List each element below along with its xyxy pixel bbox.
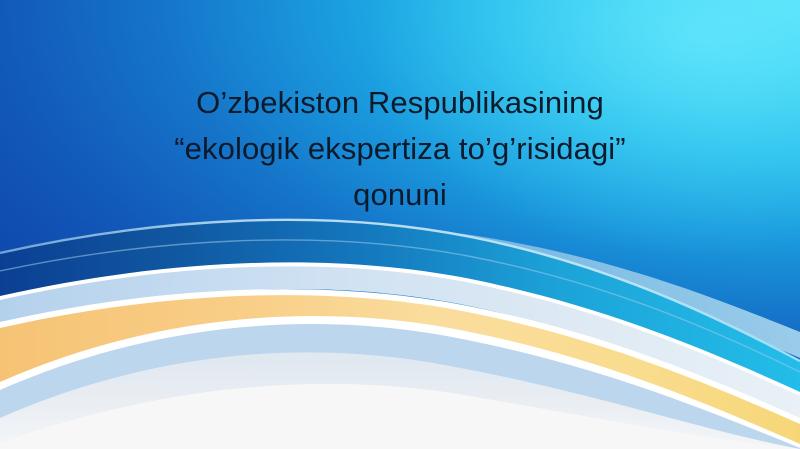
decorative-wave-graphic	[0, 0, 800, 449]
title-slide: O’zbekiston Respublikasining “ekologik e…	[0, 0, 800, 449]
title-line-1: O’zbekiston Respublikasining	[0, 80, 800, 126]
slide-title: O’zbekiston Respublikasining “ekologik e…	[0, 80, 800, 218]
title-line-2: “ekologik ekspertiza to’g’risidagi”	[0, 126, 800, 172]
title-line-3: qonuni	[0, 172, 800, 218]
